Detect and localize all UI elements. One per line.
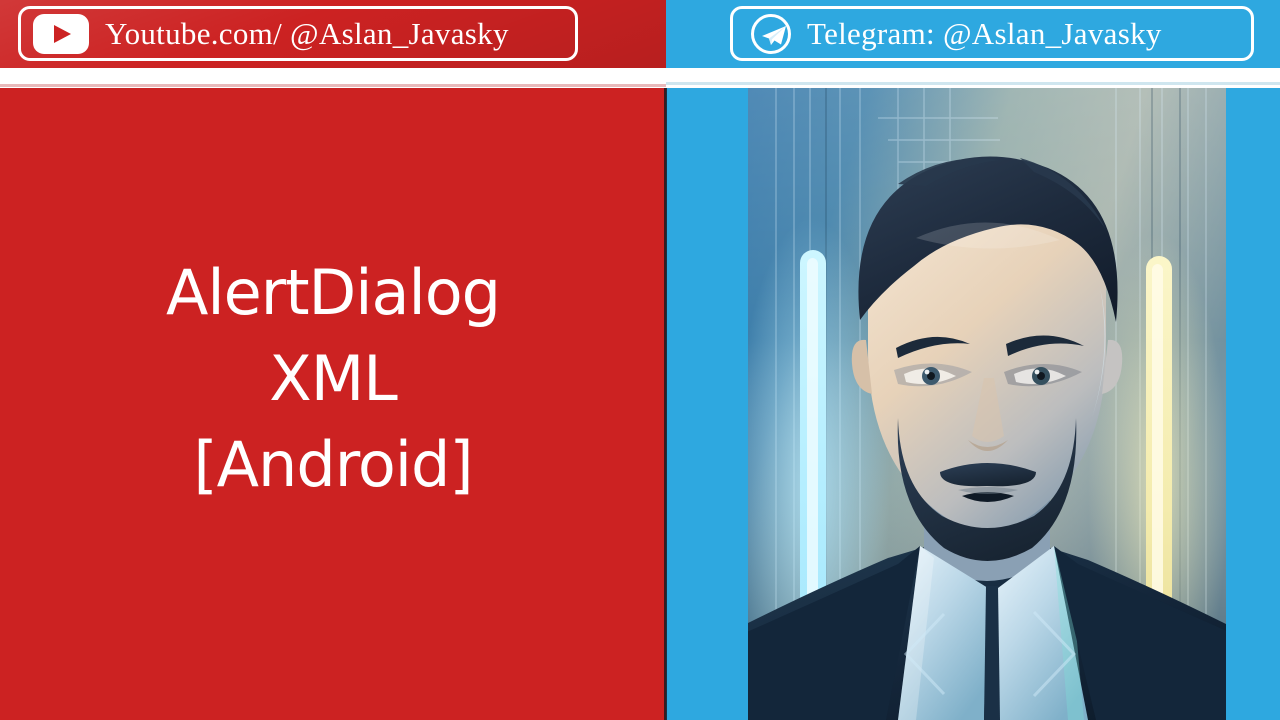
- divider-accent-left: [0, 84, 666, 87]
- youtube-handle-label: Youtube.com/ @Aslan_Javasky: [105, 16, 509, 52]
- slide-title-line-1: AlertDialog: [0, 250, 666, 336]
- divider-accent-right: [666, 82, 1280, 85]
- slide-title-line-3: [Android]: [0, 422, 666, 508]
- telegram-handle-label: Telegram: @Aslan_Javasky: [807, 16, 1162, 52]
- slide-title-line-2: XML: [0, 336, 666, 422]
- slide-canvas: Youtube.com/ @Aslan_Javasky Telegram: @A…: [0, 0, 1280, 720]
- telegram-handle-badge[interactable]: Telegram: @Aslan_Javasky: [730, 6, 1254, 61]
- telegram-plane-icon: [751, 14, 791, 54]
- presenter-portrait: [748, 88, 1226, 720]
- slide-title: AlertDialog XML [Android]: [0, 250, 666, 508]
- youtube-handle-badge[interactable]: Youtube.com/ @Aslan_Javasky: [18, 6, 578, 61]
- youtube-play-icon: [33, 14, 89, 54]
